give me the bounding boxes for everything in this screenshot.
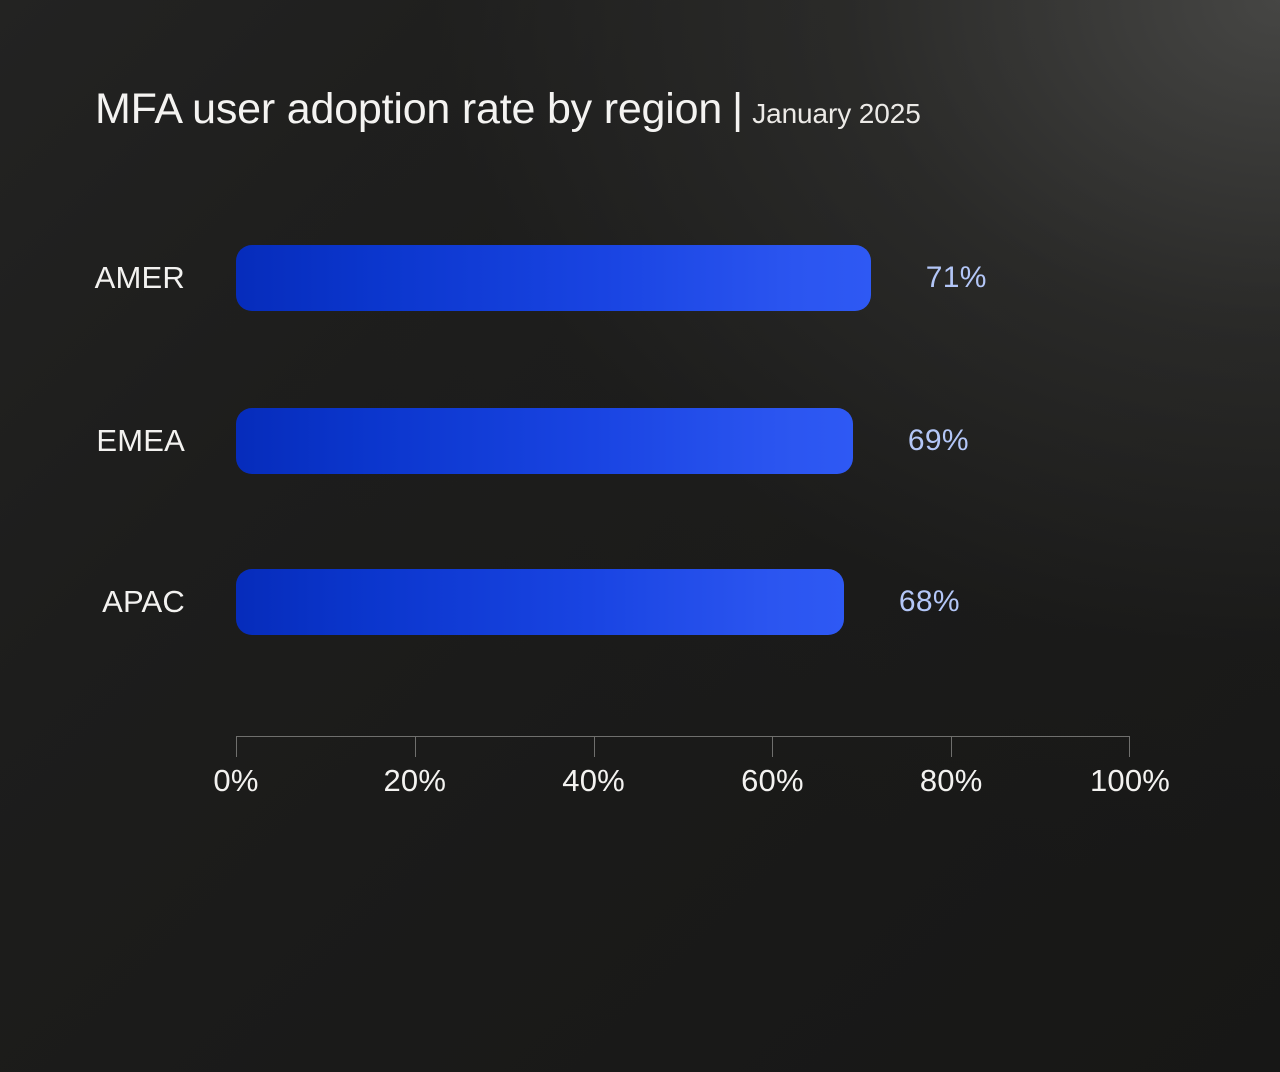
x-axis-tick-0 (236, 736, 237, 757)
x-axis-label-60: 60% (692, 763, 852, 799)
bar-track-amer (236, 245, 1130, 311)
category-label-emea: EMEA (0, 408, 185, 474)
bar-row-emea: EMEA 69% (0, 408, 1280, 474)
x-axis-tick-20 (415, 736, 416, 757)
bar-amer[interactable] (236, 245, 871, 311)
x-axis-tick-40 (594, 736, 595, 757)
x-axis-label-20: 20% (335, 763, 495, 799)
bar-emea[interactable] (236, 408, 853, 474)
plot-area: AMER 71% EMEA 69% APAC 68% (0, 0, 1280, 1072)
x-axis-label-0: 0% (156, 763, 316, 799)
bar-track-apac (236, 569, 1130, 635)
x-axis-label-40: 40% (514, 763, 674, 799)
bar-row-amer: AMER 71% (0, 245, 1280, 311)
value-label-emea: 69% (908, 408, 969, 474)
x-axis-label-100: 100% (1050, 763, 1210, 799)
bar-row-apac: APAC 68% (0, 569, 1280, 635)
x-axis-tick-80 (951, 736, 952, 757)
chart-canvas: MFA user adoption rate by region | Janua… (0, 0, 1280, 1072)
x-axis-label-80: 80% (871, 763, 1031, 799)
value-label-amer: 71% (926, 245, 987, 311)
bar-track-emea (236, 408, 1130, 474)
bar-apac[interactable] (236, 569, 844, 635)
category-label-apac: APAC (0, 569, 185, 635)
x-axis: 0% 20% 40% 60% 80% 100% (236, 736, 1130, 737)
value-label-apac: 68% (899, 569, 960, 635)
x-axis-tick-60 (772, 736, 773, 757)
x-axis-tick-100 (1129, 736, 1130, 757)
category-label-amer: AMER (0, 245, 185, 311)
